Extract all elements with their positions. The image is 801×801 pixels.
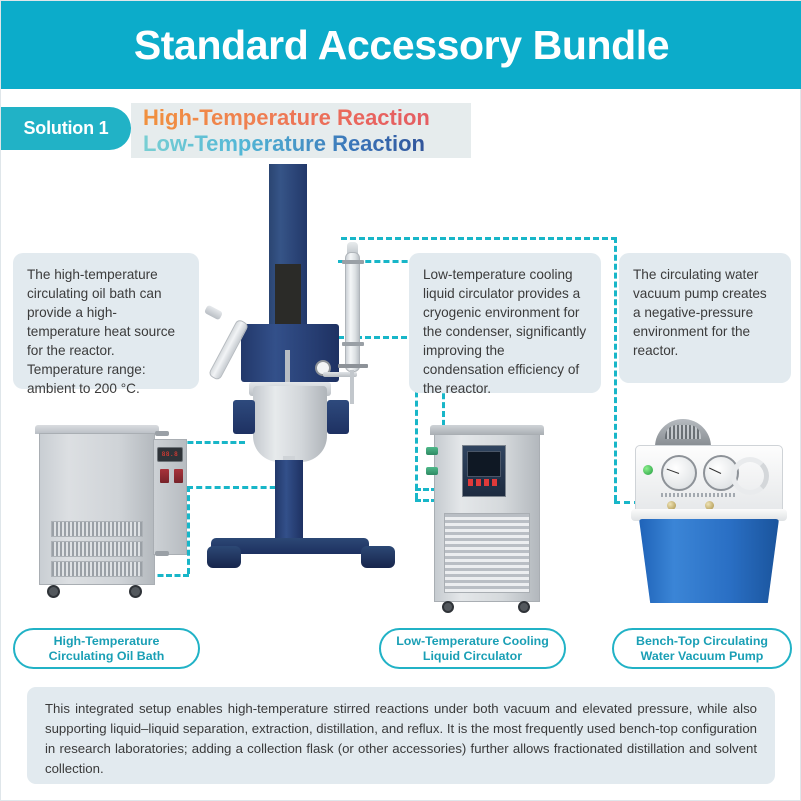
vacuum-pump-power-indicator: [643, 465, 653, 475]
addition-funnel-cap: [204, 305, 223, 321]
caption-oil-bath: High-Temperature Circulating Oil Bath: [13, 628, 200, 669]
connector-vacuum-vert: [614, 237, 617, 501]
low-temperature-reaction-label: Low-Temperature Reaction: [143, 131, 471, 157]
reaction-types-block: High-Temperature Reaction Low-Temperatur…: [131, 103, 471, 158]
solution-badge-label: Solution 1: [24, 118, 109, 139]
summary-text-box: This integrated setup enables high-tempe…: [27, 687, 775, 784]
gauge-needle: [709, 468, 721, 474]
caption-chiller: Low-Temperature Cooling Liquid Circulato…: [379, 628, 566, 669]
condenser-support-bar: [338, 364, 368, 368]
caption-pump-line1: Bench-Top Circulating: [636, 634, 768, 649]
condenser-coolant-outlet: [342, 342, 364, 346]
caption-vacuum-pump: Bench-Top Circulating Water Vacuum Pump: [612, 628, 792, 669]
chiller-inlet-port: [426, 467, 438, 475]
callout-chiller: Low-temperature cooling liquid circulato…: [409, 253, 601, 393]
vacuum-pump-hose: [731, 457, 769, 495]
solution-badge: Solution 1: [1, 107, 131, 150]
glass-reactor-illustration: [197, 164, 407, 604]
vacuum-pump-nameplate: [661, 493, 737, 497]
reactor-clamp-right: [327, 400, 349, 434]
oil-bath-caster: [47, 585, 60, 598]
caption-oil-bath-line2: Circulating Oil Bath: [49, 649, 165, 664]
reactor-column-slot: [275, 264, 301, 326]
oil-bath-caster: [129, 585, 142, 598]
caption-pump-line2: Water Vacuum Pump: [636, 649, 768, 664]
chiller-illustration: [428, 425, 546, 620]
chiller-digital-readout: [468, 479, 500, 486]
vacuum-pump-motor-grille: [665, 425, 701, 439]
callout-vacuum-pump: The circulating water vacuum pump create…: [619, 253, 791, 383]
reactor-vessel: [253, 386, 327, 462]
oil-bath-display: 88.8: [157, 447, 183, 462]
chiller-vent-grille: [444, 513, 530, 593]
oil-bath-vent: [51, 561, 143, 577]
oil-bath-illustration: 88.8: [29, 425, 189, 615]
chiller-caster: [442, 601, 454, 613]
callout-oil-bath: The high-temperature circulating oil bat…: [13, 253, 199, 389]
chiller-display-screen: [467, 451, 501, 477]
vacuum-pump-water-tank: [639, 519, 779, 603]
oil-bath-button-1: [160, 469, 169, 483]
reflux-condenser: [345, 252, 360, 372]
reactor-base-foot: [207, 546, 241, 568]
page-title: Standard Accessory Bundle: [134, 22, 669, 69]
oil-bath-outlet-port: [155, 431, 169, 436]
reactor-base-foot: [361, 546, 395, 568]
chiller-caster: [518, 601, 530, 613]
caption-chiller-line2: Liquid Circulator: [396, 649, 549, 664]
condenser-stem: [350, 370, 354, 404]
caption-chiller-line1: Low-Temperature Cooling: [396, 634, 549, 649]
header-bar: Standard Accessory Bundle: [1, 1, 801, 89]
infographic-page: Standard Accessory Bundle Solution 1 Hig…: [0, 0, 801, 801]
oil-bath-return-port: [155, 551, 169, 556]
oil-bath-vent: [51, 541, 143, 557]
oil-bath-button-2: [174, 469, 183, 483]
reactor-stand-post: [275, 460, 303, 540]
chiller-outlet-port: [426, 447, 438, 455]
oil-bath-vent: [51, 521, 143, 537]
condenser-coolant-inlet: [342, 260, 364, 264]
caption-oil-bath-line1: High-Temperature: [49, 634, 165, 649]
high-temperature-reaction-label: High-Temperature Reaction: [143, 105, 471, 131]
vacuum-gauge-left: [661, 455, 697, 491]
reactor-clamp-left: [233, 400, 255, 434]
vacuum-pump-illustration: [627, 419, 795, 615]
gauge-needle: [667, 469, 680, 474]
